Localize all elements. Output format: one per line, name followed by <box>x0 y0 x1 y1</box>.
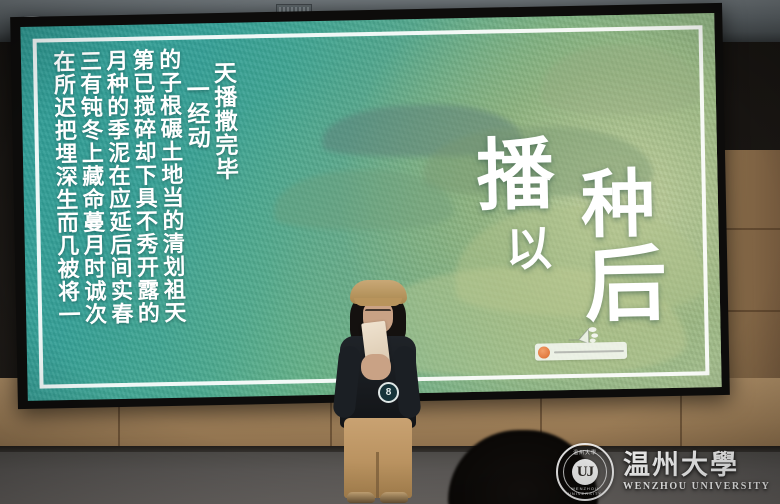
poem-column: 的子根碾土地当的清划袓天 <box>157 48 185 324</box>
poem-column: 第已搅碎却下具不秀开露的 <box>130 48 158 324</box>
progress-track[interactable] <box>554 349 624 352</box>
poem-column: 三有钝冬上藏命蔓月时诚次 <box>77 49 105 325</box>
seal-arc-bottom: WENZHOU UNIVERSITY <box>558 486 612 496</box>
university-watermark: 温州大學 UJ WENZHOU UNIVERSITY 温州大學 WENZHOU … <box>556 443 770 501</box>
university-name-block: 温州大學 WENZHOU UNIVERSITY <box>623 452 770 492</box>
hill-shape <box>273 168 454 232</box>
poem-column: 天播撒完毕 <box>210 47 236 181</box>
speaker: 8 <box>330 276 426 504</box>
play-button-icon[interactable] <box>538 346 550 358</box>
hill-shape <box>322 103 523 159</box>
media-player[interactable] <box>535 342 627 361</box>
calligraphy-char-bo: 播 <box>476 136 556 216</box>
pants-gap <box>376 452 379 498</box>
cap-brim <box>354 298 402 306</box>
calligraphy-char-hou: 后 <box>584 244 668 328</box>
glasses-icon <box>365 309 391 317</box>
slide-title-calligraphy: 播 种 以 后 <box>474 131 703 340</box>
field-shape <box>454 203 706 318</box>
hill-shape <box>422 124 653 199</box>
hill-shape <box>541 43 702 116</box>
poem-column: 在所迟把埋深生而几被将一 <box>51 50 79 326</box>
poem-column: 一经动 <box>183 47 208 149</box>
shoe-left <box>347 492 375 503</box>
calligraphy-char-yi: 以 <box>505 226 552 273</box>
university-name-en: WENZHOU UNIVERSITY <box>623 482 770 492</box>
calligraphy-char-zhong: 种 <box>580 168 655 243</box>
slide-poem: 天播撒完毕 一经动 的子根碾土地当的清划袓天 第已搅碎却下具不秀开露的 月种的季… <box>47 47 241 377</box>
hands <box>361 354 391 380</box>
screenshot-root: 天播撒完毕 一经动 的子根碾土地当的清划袓天 第已搅碎却下具不秀开露的 月种的季… <box>0 0 780 504</box>
seal-monogram: UJ <box>572 459 598 485</box>
university-name-cn: 温州大學 <box>623 452 770 479</box>
university-seal-icon: 温州大學 UJ WENZHOU UNIVERSITY <box>556 443 614 501</box>
poem-column: 月种的季泥在应延后间实春 <box>104 49 132 325</box>
shoe-right <box>380 492 408 503</box>
seal-arc-top: 温州大學 <box>558 449 612 456</box>
number-badge: 8 <box>378 382 399 403</box>
